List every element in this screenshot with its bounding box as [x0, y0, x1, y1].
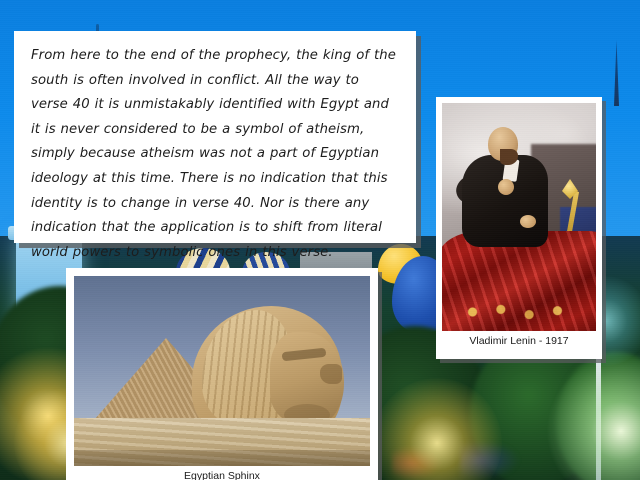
sphinx-nose — [320, 364, 342, 384]
picture-lenin[interactable]: Vladimir Lenin - 1917 — [436, 97, 602, 359]
background-lamp-post — [596, 350, 601, 480]
sphinx-photo — [74, 276, 370, 466]
background-people — [460, 440, 520, 480]
lenin-gold-fringe — [456, 299, 574, 325]
sphinx-caption: Egyptian Sphinx — [74, 466, 370, 480]
body-text: From here to the end of the prophecy, th… — [31, 44, 399, 265]
background-people — [392, 446, 442, 480]
lenin-caption: Vladimir Lenin - 1917 — [442, 331, 596, 348]
lenin-photo — [442, 103, 596, 331]
picture-sphinx[interactable]: Egyptian Sphinx — [66, 268, 378, 480]
lenin-hand — [520, 215, 536, 228]
lenin-hand — [498, 179, 514, 195]
presentation-slide: From here to the end of the prophecy, th… — [0, 0, 640, 480]
sphinx-ground-shadow — [74, 450, 370, 466]
body-text-box[interactable]: From here to the end of the prophecy, th… — [14, 31, 416, 243]
